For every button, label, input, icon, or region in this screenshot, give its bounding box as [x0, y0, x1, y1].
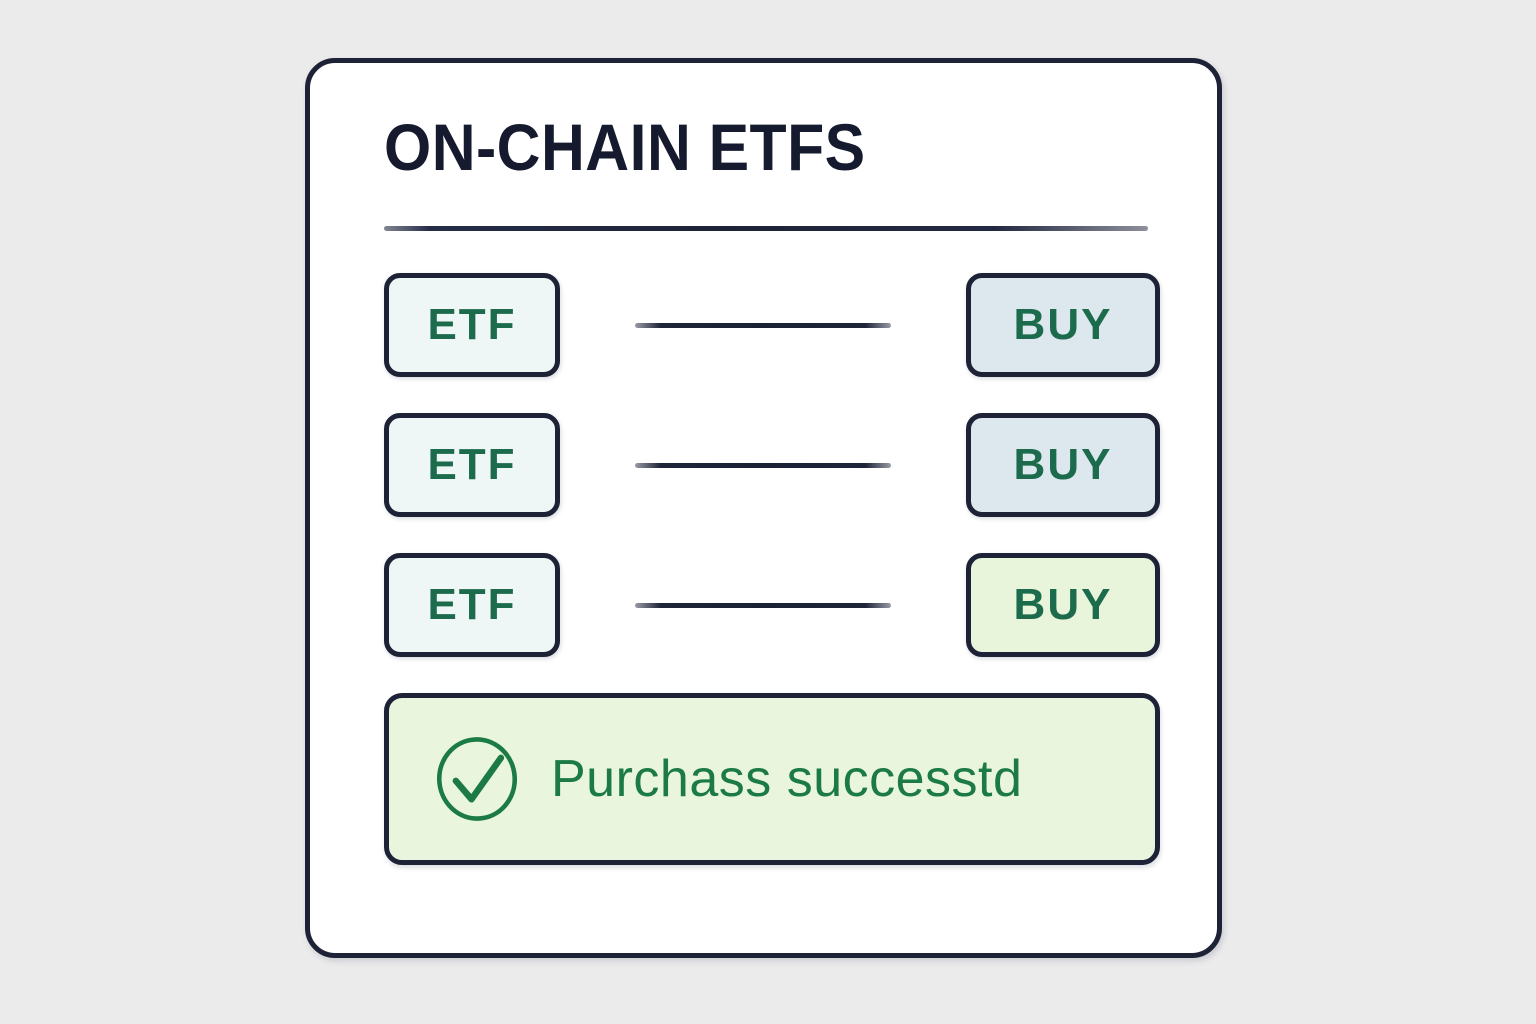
etf-pill-label: ETF [427, 440, 516, 490]
buy-button-label: BUY [1014, 440, 1113, 490]
row-connector-3 [560, 603, 966, 608]
title-divider [384, 226, 1148, 231]
buy-button-1[interactable]: BUY [966, 273, 1160, 377]
etf-row: ETF BUY [384, 553, 1160, 657]
row-connector-2 [560, 463, 966, 468]
connector-line-icon [635, 603, 891, 608]
buy-button-label: BUY [1014, 580, 1113, 630]
page-title: ON-CHAIN ETFS [384, 113, 866, 181]
connector-line-icon [635, 323, 891, 328]
check-circle-icon [431, 733, 523, 825]
etf-row: ETF BUY [384, 273, 1160, 377]
etf-pill-label: ETF [427, 300, 516, 350]
status-message: Purchass successtd [551, 749, 1022, 809]
etf-pill-2[interactable]: ETF [384, 413, 560, 517]
row-connector-1 [560, 323, 966, 328]
buy-button-3[interactable]: BUY [966, 553, 1160, 657]
on-chain-etfs-card: ON-CHAIN ETFS ETF BUY ETF BUY ETF [305, 58, 1222, 958]
connector-line-icon [635, 463, 891, 468]
buy-button-2[interactable]: BUY [966, 413, 1160, 517]
etf-pill-3[interactable]: ETF [384, 553, 560, 657]
buy-button-label: BUY [1014, 300, 1113, 350]
etf-pill-label: ETF [427, 580, 516, 630]
status-banner: Purchass successtd [384, 693, 1160, 865]
etf-row: ETF BUY [384, 413, 1160, 517]
etf-pill-1[interactable]: ETF [384, 273, 560, 377]
